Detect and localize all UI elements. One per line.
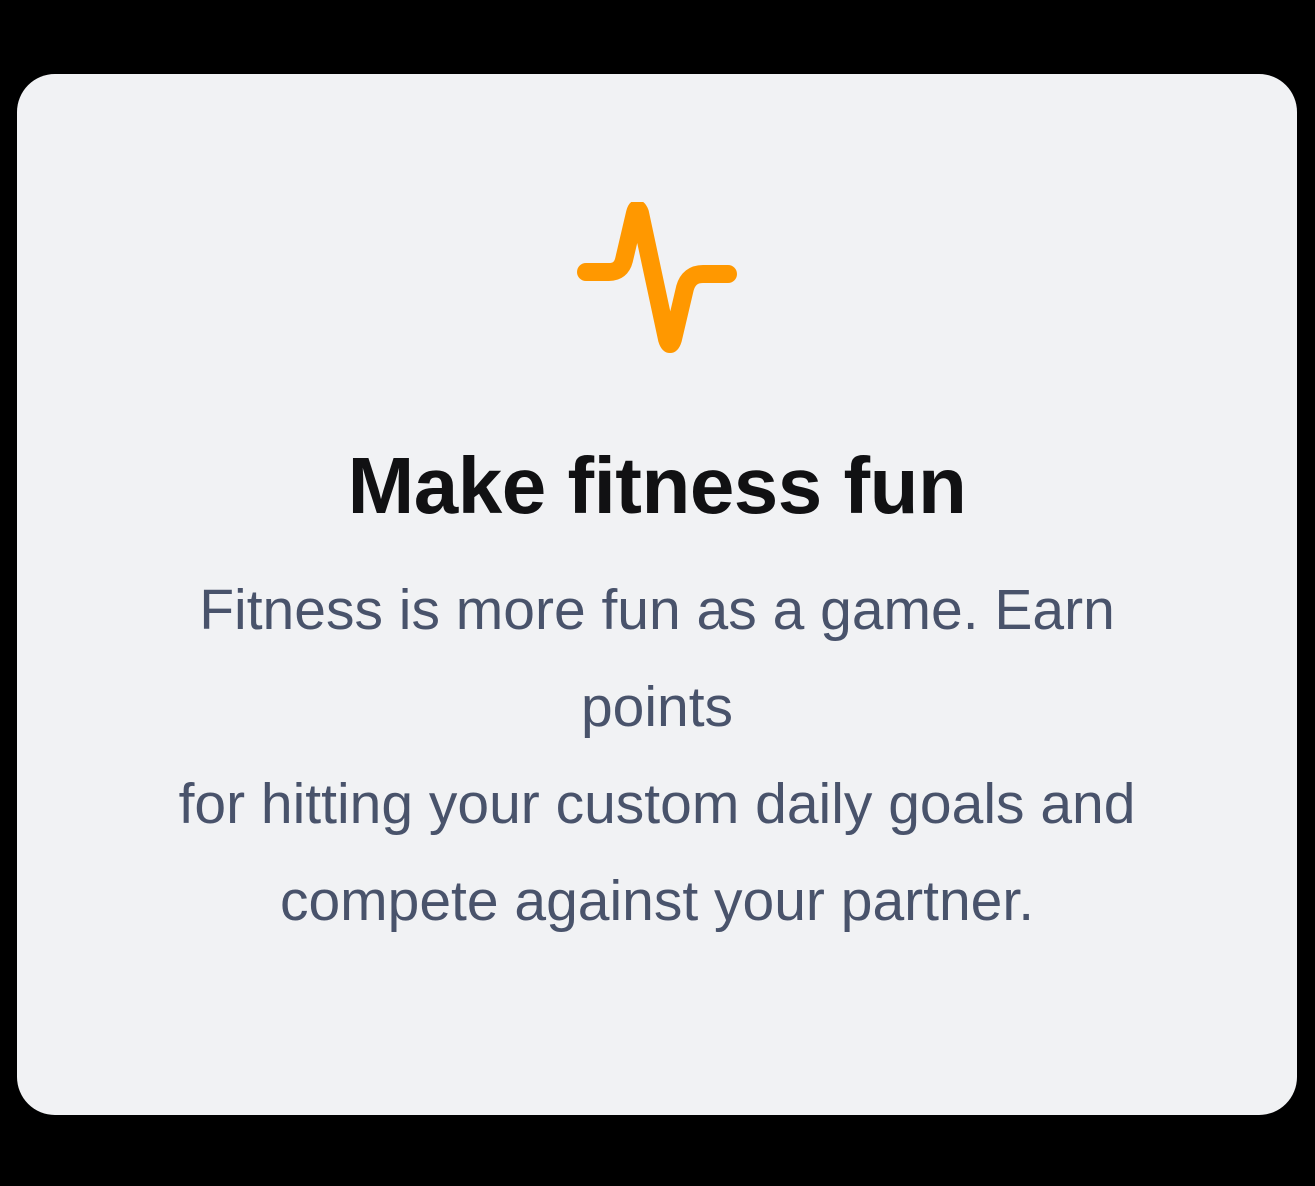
- description-line: for hitting your custom daily goals and: [107, 756, 1207, 853]
- description-line: Fitness is more fun as a game. Earn: [107, 562, 1207, 659]
- activity-pulse-icon: [577, 202, 737, 362]
- card-title: Make fitness fun: [348, 446, 967, 526]
- description-line: points: [107, 659, 1207, 756]
- feature-card: Make fitness fun Fitness is more fun as …: [17, 74, 1297, 1115]
- card-description: Fitness is more fun as a game. Earn poin…: [107, 562, 1207, 950]
- description-line: compete against your partner.: [107, 853, 1207, 950]
